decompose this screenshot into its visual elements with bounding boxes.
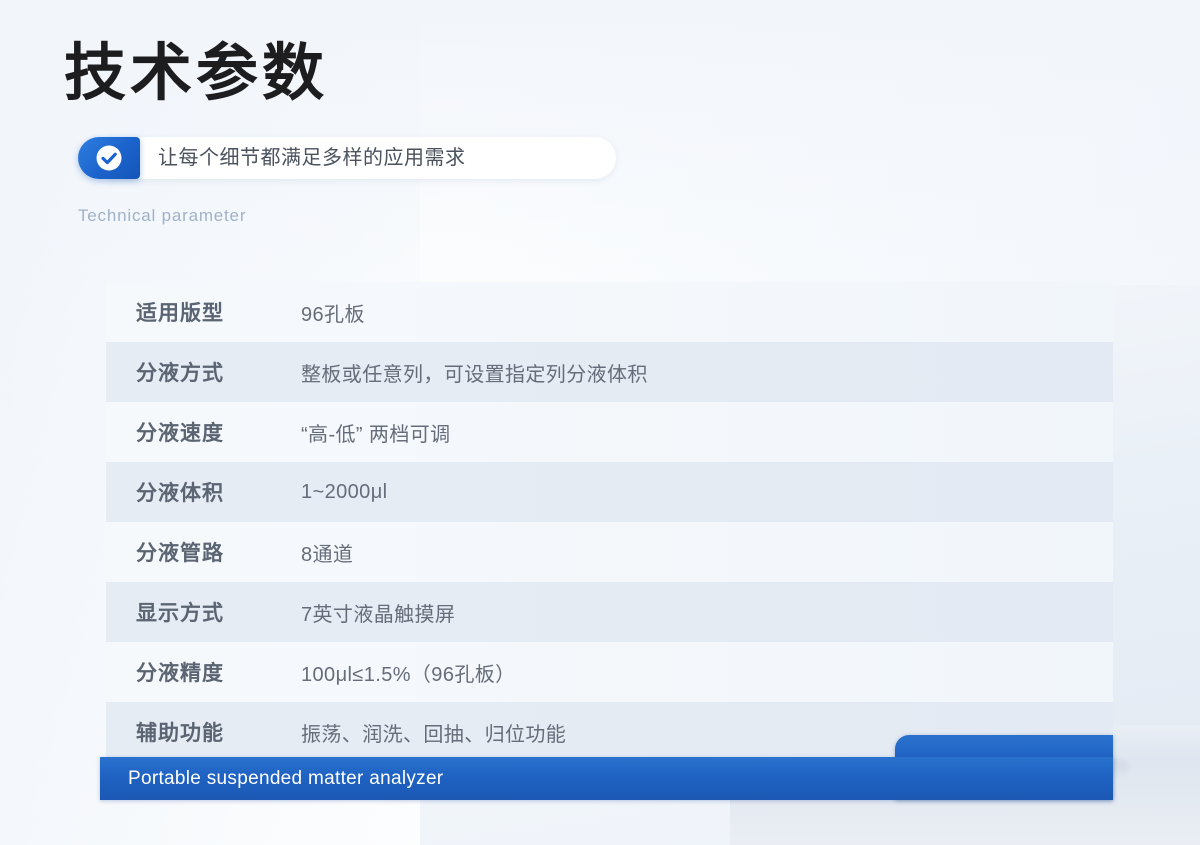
table-row: 分液速度 “高-低” 两档可调 bbox=[106, 402, 1113, 462]
product-name-label: Portable suspended matter analyzer bbox=[128, 768, 443, 790]
spec-value: 振荡、润洗、回抽、归位功能 bbox=[301, 718, 566, 747]
spec-label: 分液管路 bbox=[136, 537, 301, 567]
table-row: 分液方式 整板或任意列，可设置指定列分液体积 bbox=[106, 342, 1113, 402]
spec-value: 96孔板 bbox=[301, 298, 365, 327]
spec-value: 1~2000μl bbox=[301, 481, 387, 504]
spec-label: 分液方式 bbox=[136, 357, 301, 387]
english-subtitle: Technical parameter bbox=[78, 206, 246, 226]
spec-label: 显示方式 bbox=[136, 597, 301, 627]
page-title: 技术参数 bbox=[64, 38, 328, 107]
table-row: 适用版型 96孔板 bbox=[106, 282, 1113, 342]
check-circle-icon bbox=[78, 137, 140, 179]
subtitle-text: 让每个细节都满足多样的应用需求 bbox=[158, 137, 466, 179]
spec-value: 7英寸液晶触摸屏 bbox=[301, 598, 455, 627]
spec-label: 分液精度 bbox=[136, 657, 301, 687]
spec-value: 整板或任意列，可设置指定列分液体积 bbox=[301, 358, 648, 387]
table-row: 分液精度 100μl≤1.5%（96孔板） bbox=[106, 642, 1113, 702]
spec-label: 分液速度 bbox=[136, 417, 301, 447]
table-row: 显示方式 7英寸液晶触摸屏 bbox=[106, 582, 1113, 642]
table-row: 分液体积 1~2000μl bbox=[106, 462, 1113, 522]
spec-label: 适用版型 bbox=[136, 297, 301, 327]
spec-label: 辅助功能 bbox=[136, 717, 301, 747]
spec-value: “高-低” 两档可调 bbox=[301, 418, 451, 447]
spec-value: 100μl≤1.5%（96孔板） bbox=[301, 658, 516, 687]
spec-table: 适用版型 96孔板 分液方式 整板或任意列，可设置指定列分液体积 分液速度 “高… bbox=[106, 282, 1113, 762]
product-name-banner: Portable suspended matter analyzer bbox=[100, 757, 1113, 800]
spec-label: 分液体积 bbox=[136, 477, 301, 507]
spec-value: 8通道 bbox=[301, 538, 353, 567]
table-row: 分液管路 8通道 bbox=[106, 522, 1113, 582]
